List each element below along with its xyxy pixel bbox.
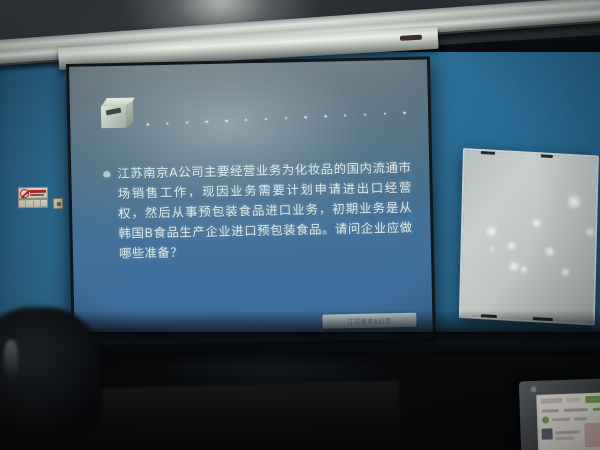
cube-3d-icon — [101, 98, 136, 131]
projector-screen: 江苏南京A公司主要经营业务为化妆品的国内流通市场销售工作，现因业务需要计划申请进… — [66, 56, 436, 350]
slide-body-text: 江苏南京A公司主要经营业务为化妆品的国内流通市场销售工作，现因业务需要计划申请进… — [117, 158, 413, 265]
laptop-screen[interactable] — [536, 392, 600, 450]
light-switch[interactable] — [53, 198, 63, 209]
laptop[interactable] — [519, 379, 600, 450]
photo-scene: 江苏南京A公司主要经营业务为化妆品的国内流通市场销售工作，现因业务需要计划申请进… — [0, 0, 600, 450]
chair-highlight — [4, 340, 18, 380]
bullet-marker-icon — [103, 171, 110, 177]
slide-bullet-item: 江苏南京A公司主要经营业务为化妆品的国内流通市场销售工作，现因业务需要计划申请进… — [103, 158, 413, 265]
whiteboard — [459, 148, 599, 326]
dotted-divider — [146, 111, 406, 127]
housing-slot-icon — [400, 35, 422, 41]
no-smoking-sign-subpanel — [18, 199, 48, 209]
no-smoking-icon — [20, 189, 29, 198]
no-smoking-sign-text — [30, 190, 46, 197]
presentation-slide: 江苏南京A公司主要经营业务为化妆品的国内流通市场销售工作，现因业务需要计划申请进… — [69, 59, 433, 345]
no-smoking-sign — [18, 187, 48, 200]
